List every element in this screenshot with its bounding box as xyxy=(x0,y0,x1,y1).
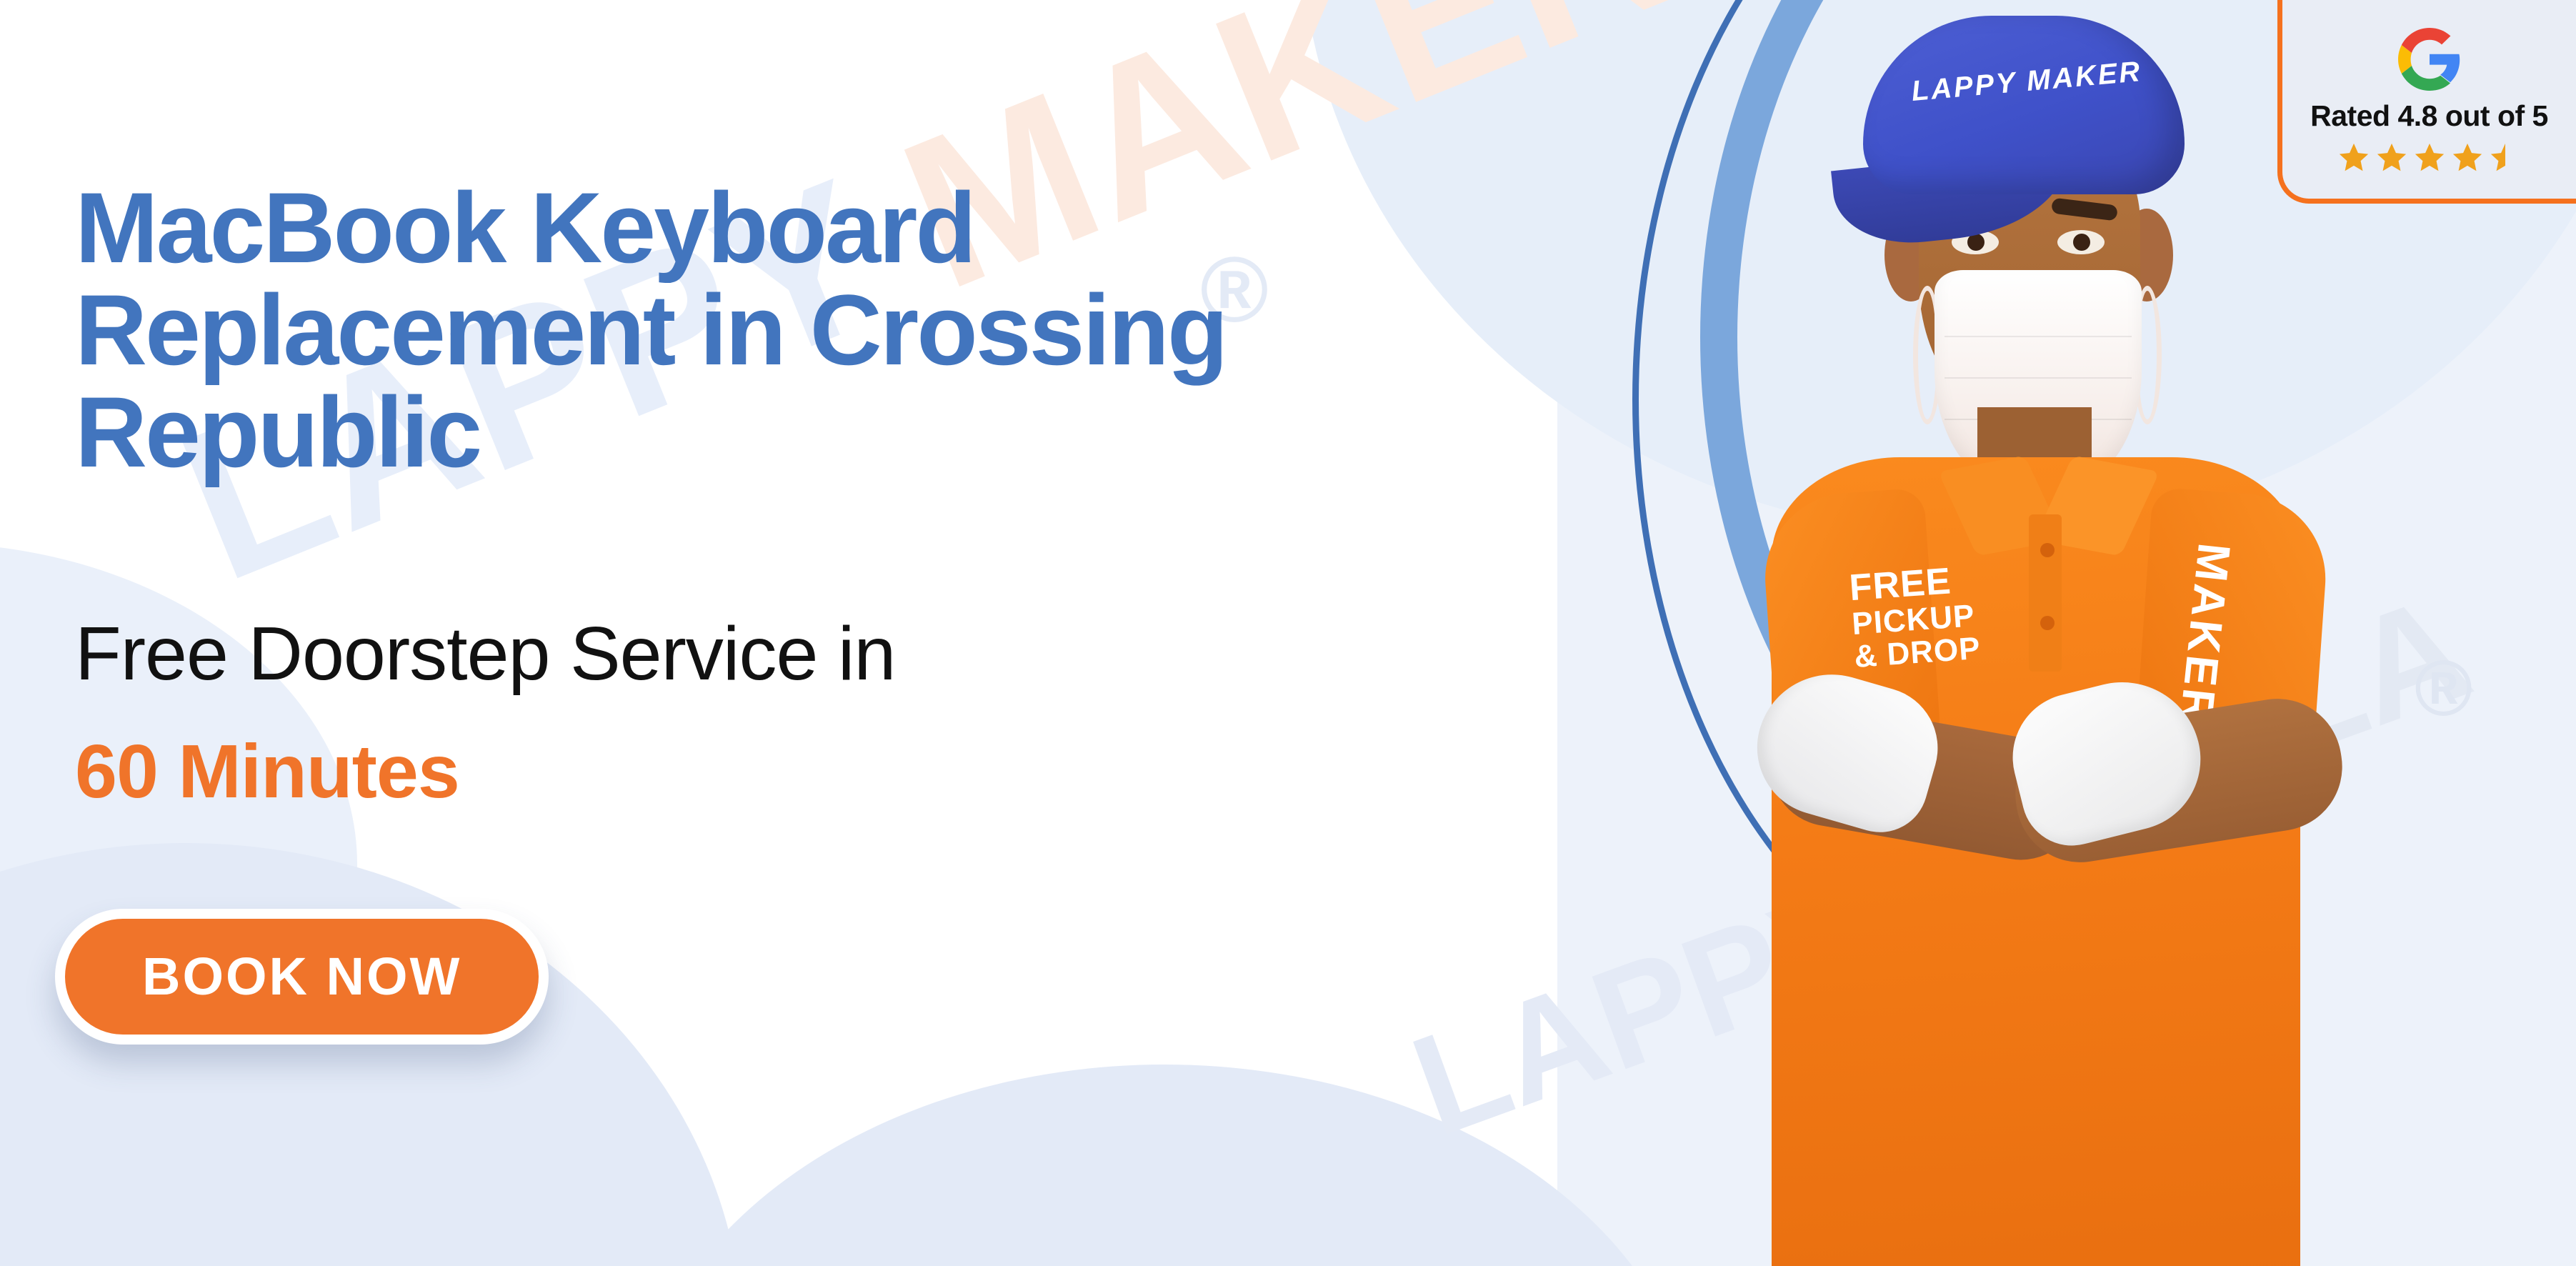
shirt-placket xyxy=(2029,514,2062,672)
mask-fold xyxy=(1945,336,2132,337)
promo-banner: LAPPY MAKER ® LAPPY LA ® xyxy=(0,0,2576,1266)
shirt-chest-text: FREE PICKUP & DROP xyxy=(1848,560,1982,674)
star-icon-full xyxy=(2451,141,2484,174)
highlight-text: 60 Minutes xyxy=(75,729,459,815)
subheadline: Free Doorstep Service in xyxy=(75,611,895,697)
star-icon-full xyxy=(2413,141,2446,174)
shirt-button xyxy=(2040,543,2055,557)
cta-frame: BOOK NOW xyxy=(55,909,549,1045)
google-g-icon xyxy=(2395,25,2464,94)
pupil-right xyxy=(2073,234,2090,251)
book-now-button[interactable]: BOOK NOW xyxy=(65,919,539,1035)
page-title: MacBook Keyboard Replacement in Crossing… xyxy=(75,177,1589,483)
mask-fold xyxy=(1945,377,2132,379)
copy-block: MacBook Keyboard Replacement in Crossing… xyxy=(75,0,1597,1266)
star-rating xyxy=(2337,141,2522,174)
eye-right xyxy=(2057,230,2105,254)
google-rating-badge[interactable]: Rated 4.8 out of 5 xyxy=(2277,0,2576,204)
star-icon-full xyxy=(2337,141,2370,174)
star-icon-half xyxy=(2489,141,2522,174)
shirt-button xyxy=(2040,616,2055,630)
rating-label: Rated 4.8 out of 5 xyxy=(2310,99,2548,133)
star-icon-full xyxy=(2375,141,2408,174)
